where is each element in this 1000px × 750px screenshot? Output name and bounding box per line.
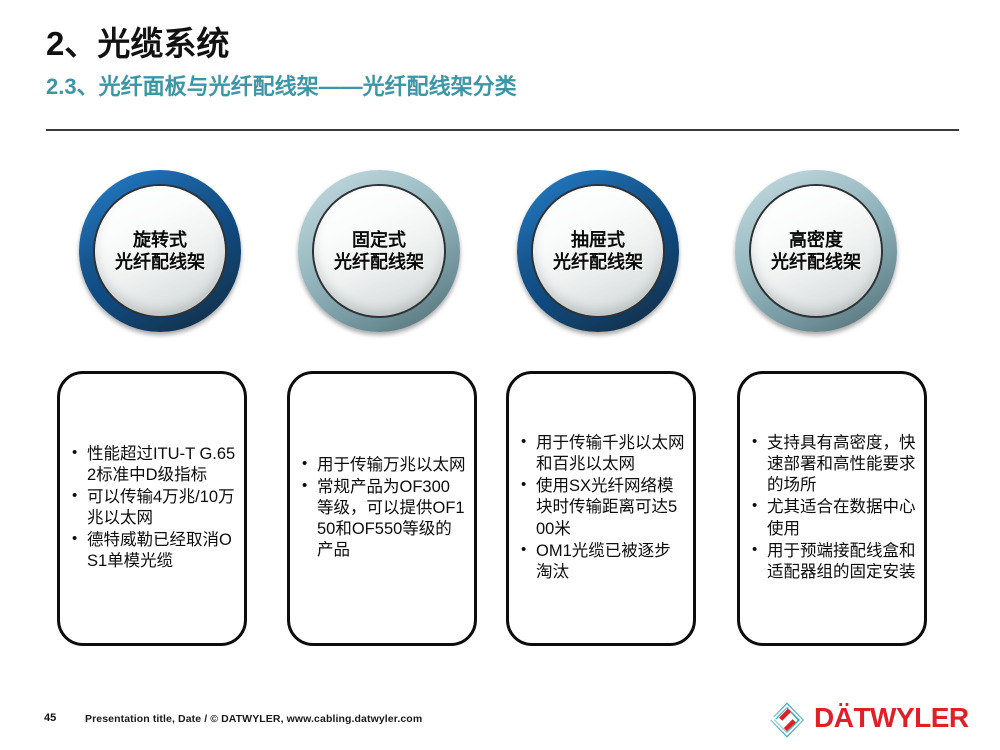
circle-item-high-density[interactable]: 高密度 光纤配线架 — [735, 170, 897, 332]
circle-ring: 抽屉式 光纤配线架 — [517, 170, 679, 332]
page-subtitle: 2.3、光纤面板与光纤配线架——光纤配线架分类 — [46, 75, 517, 99]
circle-label: 高密度 光纤配线架 — [767, 229, 865, 274]
header-divider — [46, 129, 959, 131]
circle-ring: 高密度 光纤配线架 — [735, 170, 897, 332]
list-item: 可以传输4万兆/10万兆以太网 — [70, 487, 236, 529]
list-item: 用于预端接配线盒和适配器组的固定安装 — [750, 541, 916, 583]
list-item: 性能超过ITU-T G.652标准中D级指标 — [70, 444, 236, 486]
bullet-box-row: 性能超过ITU-T G.652标准中D级指标 可以传输4万兆/10万兆以太网 德… — [0, 371, 1000, 651]
circle-disc: 高密度 光纤配线架 — [751, 186, 881, 316]
circle-ring: 旋转式 光纤配线架 — [79, 170, 241, 332]
circle-label: 固定式 光纤配线架 — [330, 229, 428, 274]
circle-disc: 固定式 光纤配线架 — [314, 186, 444, 316]
circle-row: 旋转式 光纤配线架 固定式 光纤配线架 抽屉式 光纤配线架 — [0, 170, 1000, 335]
bullet-box-high-density: 支持具有高密度，快速部署和高性能要求的场所 尤其适合在数据中心使用 用于预端接配… — [737, 371, 927, 646]
bullet-box-rotary: 性能超过ITU-T G.652标准中D级指标 可以传输4万兆/10万兆以太网 德… — [57, 371, 247, 646]
page-number: 45 — [44, 712, 56, 724]
list-item: 支持具有高密度，快速部署和高性能要求的场所 — [750, 433, 916, 496]
datwyler-wordmark: DÄTWYLER — [814, 702, 969, 734]
bullet-list: 用于传输万兆以太网 常规产品为OF300等级，可以提供OF150和OF550等级… — [290, 455, 474, 563]
circle-disc: 旋转式 光纤配线架 — [95, 186, 225, 316]
footer-credit: Presentation title, Date / © DATWYLER, w… — [85, 713, 422, 725]
bullet-box-drawer: 用于传输千兆以太网和百兆以太网 使用SX光纤网络模块时传输距离可达500米 OM… — [506, 371, 696, 646]
circle-label: 抽屉式 光纤配线架 — [549, 229, 647, 274]
list-item: OM1光缆已被逐步淘汰 — [519, 541, 685, 583]
list-item: 使用SX光纤网络模块时传输距离可达500米 — [519, 476, 685, 539]
list-item: 用于传输千兆以太网和百兆以太网 — [519, 433, 685, 475]
circle-disc: 抽屉式 光纤配线架 — [533, 186, 663, 316]
datwyler-logo: DÄTWYLER — [766, 698, 962, 742]
bullet-list: 支持具有高密度，快速部署和高性能要求的场所 尤其适合在数据中心使用 用于预端接配… — [740, 433, 924, 584]
datwyler-diamond-icon — [766, 700, 808, 740]
bullet-list: 用于传输千兆以太网和百兆以太网 使用SX光纤网络模块时传输距离可达500米 OM… — [509, 433, 693, 584]
page-title: 2、光缆系统 — [46, 26, 229, 62]
circle-item-rotary[interactable]: 旋转式 光纤配线架 — [79, 170, 241, 332]
bullet-box-fixed: 用于传输万兆以太网 常规产品为OF300等级，可以提供OF150和OF550等级… — [287, 371, 477, 646]
circle-ring: 固定式 光纤配线架 — [298, 170, 460, 332]
list-item: 用于传输万兆以太网 — [300, 455, 466, 476]
list-item: 尤其适合在数据中心使用 — [750, 497, 916, 539]
circle-label: 旋转式 光纤配线架 — [111, 229, 209, 274]
slide: 2、光缆系统 2.3、光纤面板与光纤配线架——光纤配线架分类 旋转式 光纤配线架… — [0, 0, 1000, 750]
bullet-list: 性能超过ITU-T G.652标准中D级指标 可以传输4万兆/10万兆以太网 德… — [60, 444, 244, 574]
circle-item-drawer[interactable]: 抽屉式 光纤配线架 — [517, 170, 679, 332]
list-item: 常规产品为OF300等级，可以提供OF150和OF550等级的产品 — [300, 477, 466, 561]
circle-item-fixed[interactable]: 固定式 光纤配线架 — [298, 170, 460, 332]
list-item: 德特威勒已经取消OS1单模光缆 — [70, 530, 236, 572]
